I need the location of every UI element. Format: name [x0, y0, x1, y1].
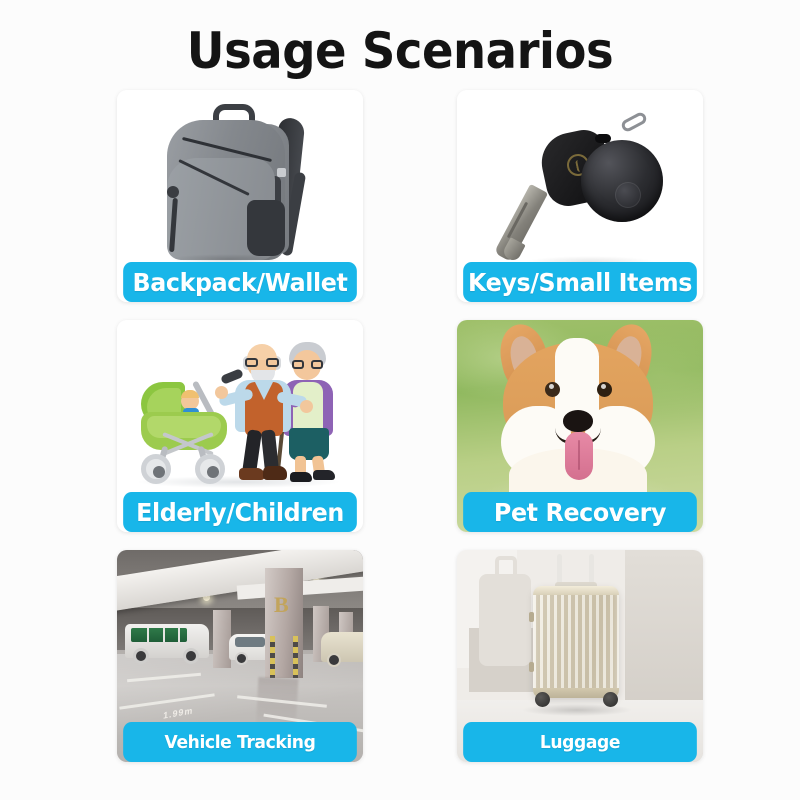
key-illustration — [485, 106, 675, 266]
tracker-tag-body — [581, 140, 663, 222]
suitcase-wheel-right — [603, 692, 618, 707]
grandma-shoe-a — [290, 472, 312, 482]
scenario-card-elderly-children[interactable]: Elderly/Children — [117, 320, 363, 532]
scenario-card-keys-small-items[interactable]: Keys/Small Items — [457, 90, 703, 302]
backpack-usb-port-icon — [277, 168, 286, 177]
page-title: Usage Scenarios — [28, 22, 772, 80]
scenario-grid: Backpack/Wallet Keys/Small Items — [117, 90, 703, 762]
grandpa-shoe-a — [239, 468, 265, 480]
elderly-children-illustration — [127, 330, 353, 492]
tracker-tag-button — [615, 182, 641, 208]
grandma-skirt — [289, 428, 329, 460]
stroller-wheel-rear — [195, 454, 225, 484]
background-suitcase-silhouette — [479, 574, 531, 666]
grandpa-hand-right — [300, 400, 313, 413]
background-suitcase-handle — [495, 556, 517, 580]
backpack-zipper-pull-icon — [167, 186, 179, 198]
corgi-eye-left-highlight — [549, 384, 554, 389]
suv-wheel-rear — [183, 648, 199, 664]
scenario-label-keys-small-items: Keys/Small Items — [463, 262, 697, 302]
suv-wheel-front — [133, 648, 149, 664]
suitcase-top-rim — [533, 586, 619, 595]
grandpa-glasses-icon — [245, 358, 279, 367]
scenario-card-vehicle-tracking[interactable]: B 1.99m Vehicle Tracking — [117, 550, 363, 762]
column-hazard-stripe-left — [270, 636, 275, 678]
suv-windows — [131, 628, 187, 642]
stroller-wheel-front — [141, 454, 171, 484]
usage-scenarios-page: Usage Scenarios — [0, 0, 800, 800]
car-right-wheel — [327, 653, 341, 667]
backpack-side-pocket — [247, 200, 285, 256]
suitcase-latch-lower — [529, 662, 534, 672]
scenario-label-elderly-children: Elderly/Children — [123, 492, 357, 532]
scenario-card-luggage[interactable]: Luggage — [457, 550, 703, 762]
suitcase-wheel-left — [535, 692, 550, 707]
parked-car-right — [321, 632, 363, 662]
grandpa-hand-left — [215, 386, 228, 399]
backpack-illustration — [151, 102, 331, 267]
scenario-label-backpack-wallet: Backpack/Wallet — [123, 262, 357, 302]
scenario-card-pet-recovery[interactable]: Pet Recovery — [457, 320, 703, 532]
scenario-label-pet-recovery: Pet Recovery — [463, 492, 697, 532]
grandma-glasses-icon — [292, 360, 323, 369]
scenario-card-backpack-wallet[interactable]: Backpack/Wallet — [117, 90, 363, 302]
scenario-label-luggage: Luggage — [463, 722, 697, 762]
parked-suv — [125, 624, 209, 658]
garage-column-secondary — [213, 610, 231, 668]
sedan-windows — [235, 637, 265, 647]
column-level-letter: B — [274, 592, 289, 618]
keyring-icon — [620, 111, 649, 134]
suitcase-latch-upper — [529, 612, 534, 622]
sedan-wheel-front — [235, 652, 248, 665]
baby-hair — [181, 390, 199, 398]
column-hazard-stripe-right — [293, 636, 298, 678]
corgi-eye-right-highlight — [601, 384, 606, 389]
grandpa-shoe-b — [263, 466, 287, 480]
suitcase-body — [533, 586, 619, 698]
scenario-label-vehicle-tracking: Vehicle Tracking — [123, 722, 357, 762]
corgi-tongue-line — [578, 440, 580, 470]
garage-column-b: B — [265, 568, 303, 678]
grandma-shoe-b — [313, 470, 335, 480]
corgi-nose — [563, 410, 593, 432]
